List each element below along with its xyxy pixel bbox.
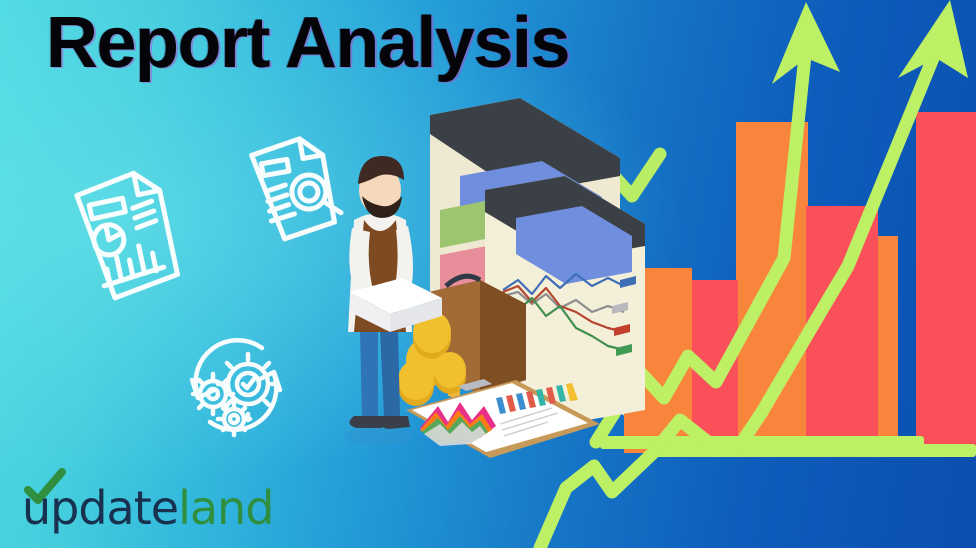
person-leg-left	[360, 330, 378, 416]
gear-check-icon	[243, 379, 254, 388]
isometric-business-analytics-scene	[320, 80, 680, 500]
clipboard-report	[406, 379, 600, 458]
person-shoe-left	[349, 416, 382, 428]
banner-image: Report Analysis updateland	[0, 0, 976, 548]
brand-logo[interactable]: updateland	[18, 468, 338, 534]
gears-process-icon	[176, 326, 296, 444]
page-title: Report Analysis	[46, 7, 569, 79]
document-search-icon	[242, 132, 352, 244]
person-leg-right	[380, 330, 400, 416]
gear-small	[218, 403, 250, 435]
report-document-icon	[64, 164, 190, 304]
gear-medium	[193, 374, 233, 414]
brand-logo-text-accent: land	[178, 481, 273, 534]
brand-logo-mark: updateland	[18, 468, 338, 534]
brand-logo-text: updateland	[22, 481, 273, 534]
person-shoe-right	[379, 416, 410, 429]
analyst-person	[344, 156, 442, 445]
person-shadow	[344, 427, 412, 445]
brand-logo-text-primary: update	[22, 481, 178, 534]
